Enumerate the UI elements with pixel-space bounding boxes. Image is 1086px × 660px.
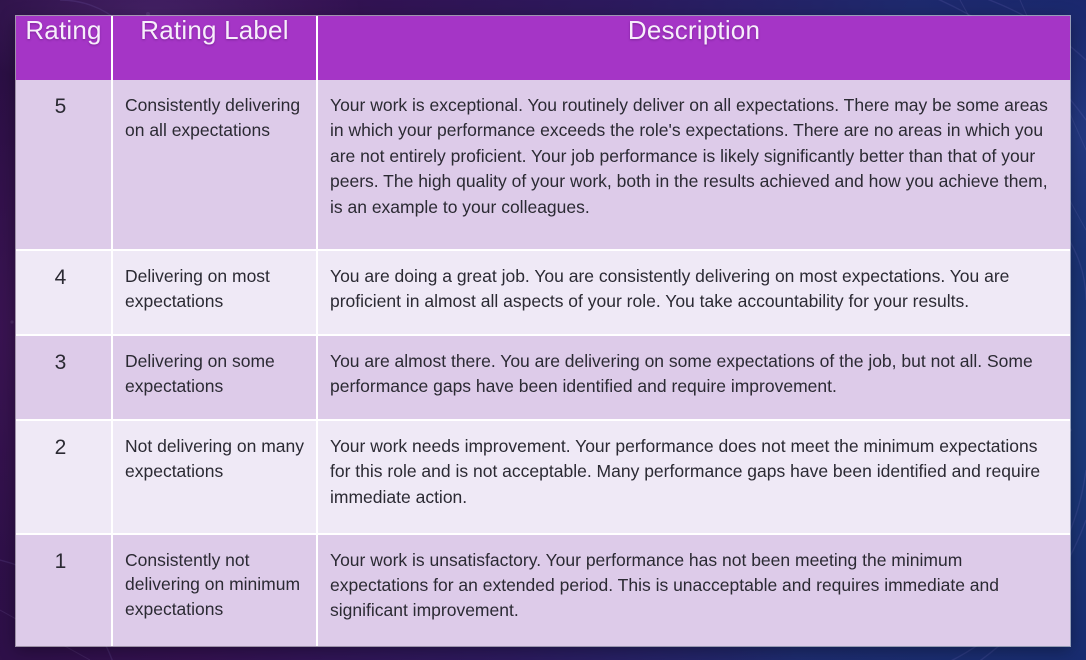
table-row: 1 Consistently not delivering on minimum…	[16, 535, 1070, 646]
cell-rating-label: Delivering on some expectations	[113, 336, 318, 421]
cell-rating-label: Consistently not delivering on minimum e…	[113, 535, 318, 646]
table-header-row: Rating Rating Label Description	[16, 16, 1070, 80]
cell-description: Your work is unsatisfactory. Your perfor…	[318, 535, 1070, 646]
column-header-description: Description	[318, 16, 1070, 80]
table-body: 5 Consistently delivering on all expecta…	[16, 80, 1070, 646]
column-header-rating: Rating	[16, 16, 113, 80]
cell-rating: 3	[16, 336, 113, 421]
table-row: 2 Not delivering on many expectations Yo…	[16, 421, 1070, 535]
cell-description: Your work needs improvement. Your perfor…	[318, 421, 1070, 535]
column-header-rating-label: Rating Label	[113, 16, 318, 80]
performance-rating-table: Rating Rating Label Description 5 Consis…	[16, 16, 1070, 646]
table-row: 3 Delivering on some expectations You ar…	[16, 336, 1070, 421]
cell-description: You are almost there. You are delivering…	[318, 336, 1070, 421]
cell-rating-label: Delivering on most expectations	[113, 251, 318, 336]
cell-description: Your work is exceptional. You routinely …	[318, 80, 1070, 251]
table-row: 5 Consistently delivering on all expecta…	[16, 80, 1070, 251]
cell-rating: 2	[16, 421, 113, 535]
cell-rating: 4	[16, 251, 113, 336]
cell-rating: 1	[16, 535, 113, 646]
table-row: 4 Delivering on most expectations You ar…	[16, 251, 1070, 336]
table-header: Rating Rating Label Description	[16, 16, 1070, 80]
cell-rating: 5	[16, 80, 113, 251]
cell-description: You are doing a great job. You are consi…	[318, 251, 1070, 336]
cell-rating-label: Not delivering on many expectations	[113, 421, 318, 535]
cell-rating-label: Consistently delivering on all expectati…	[113, 80, 318, 251]
